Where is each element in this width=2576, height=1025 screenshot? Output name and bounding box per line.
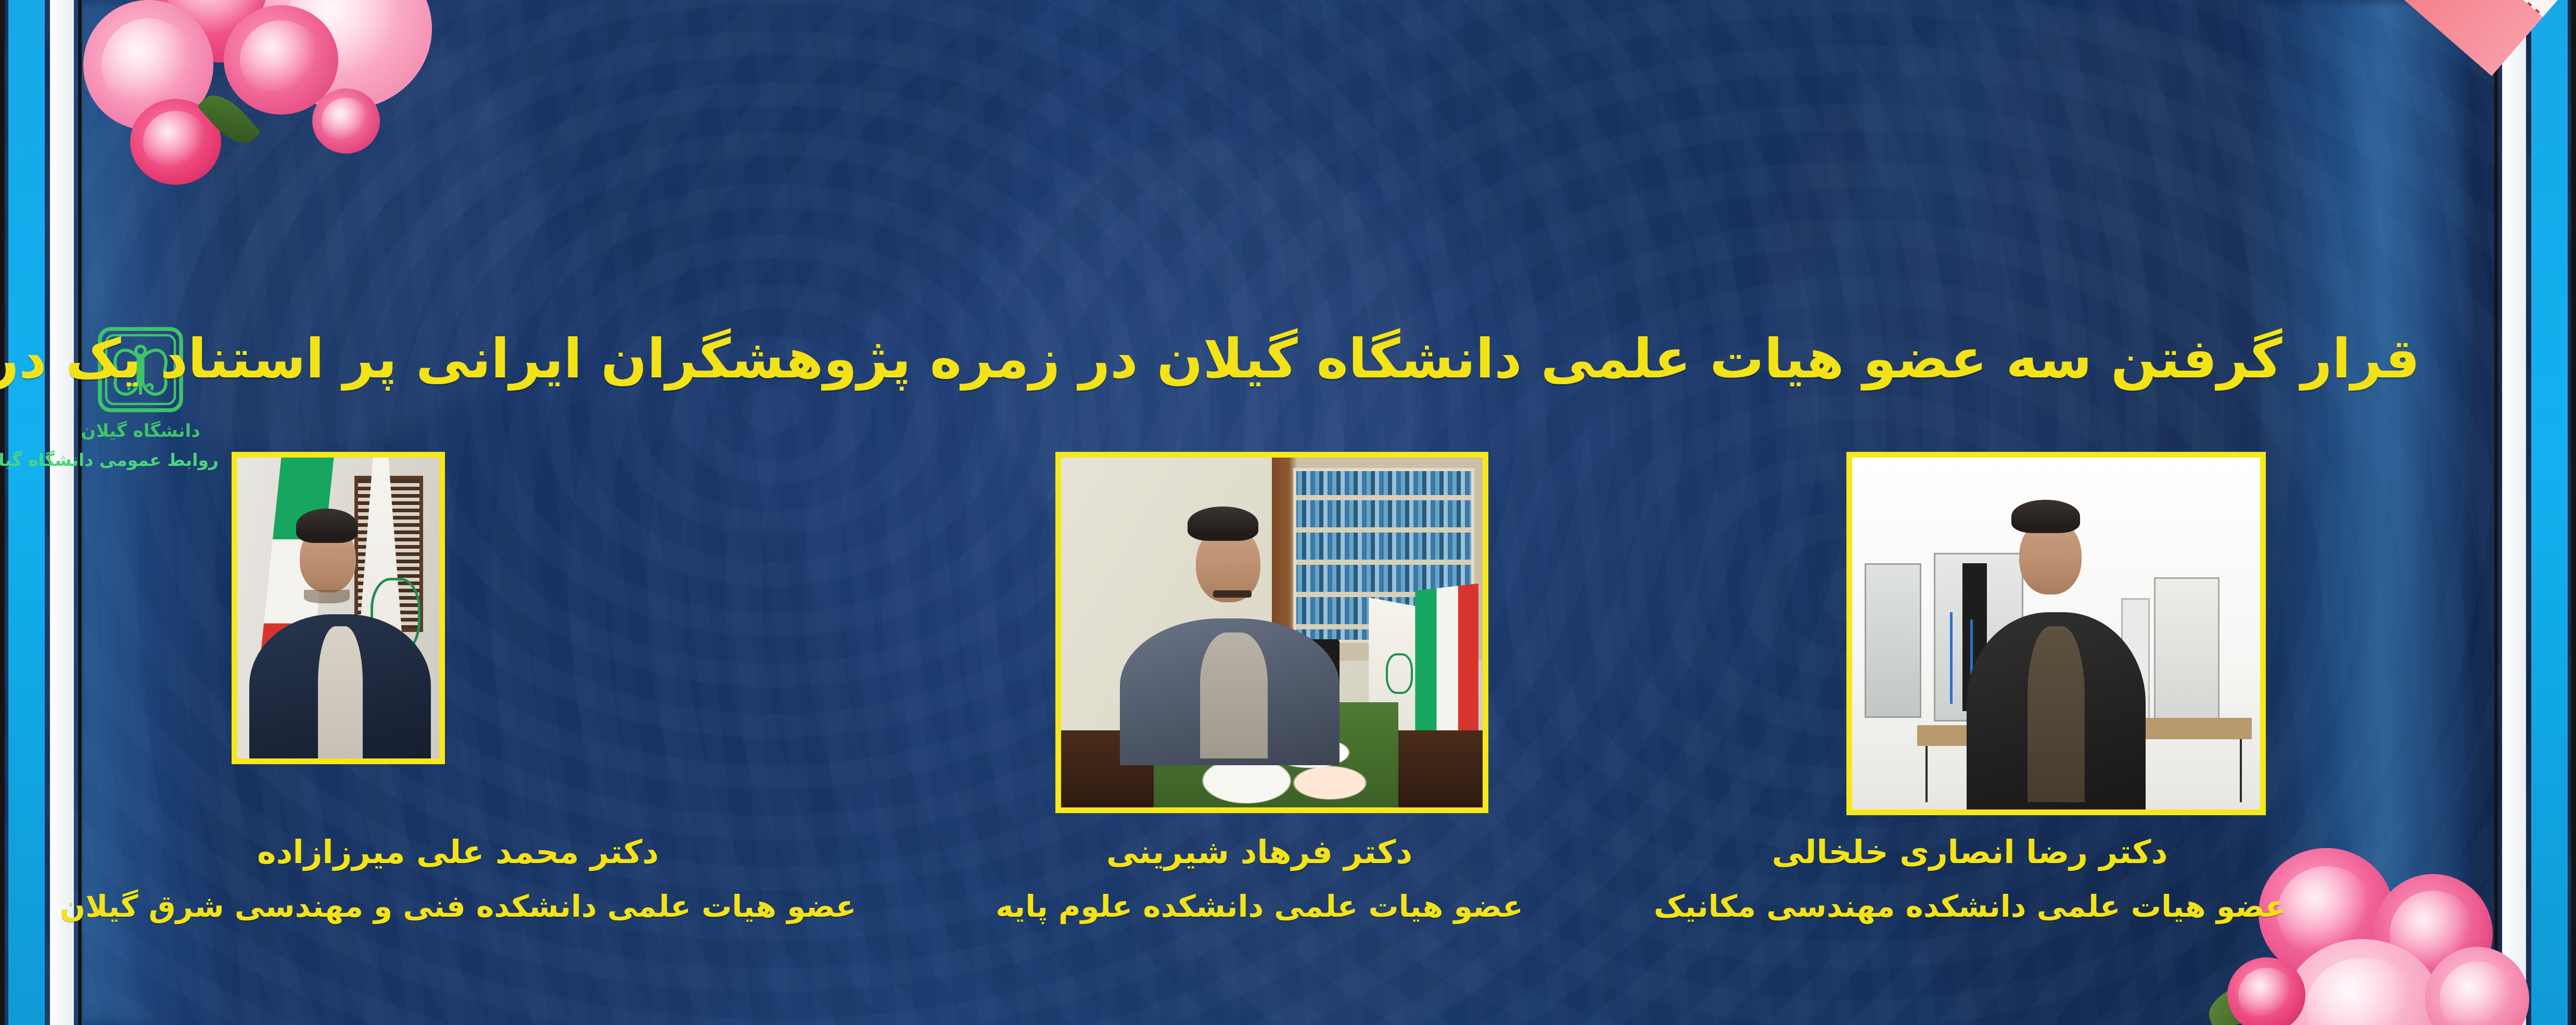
portrait-photo-ansari-khalkhali [1852, 458, 2260, 809]
logo-script-name: دانشگاه گیلان [62, 421, 219, 441]
rose-cluster-top-left [68, 0, 432, 224]
rose-flower [260, 0, 432, 109]
leaf-shape [197, 86, 261, 153]
rose-bud [312, 88, 380, 154]
page-title: قرار گرفتن سه عضو هیات علمی دانشگاه گیلا… [224, 328, 2420, 390]
person-name: دکتر فرهاد شیرینی [916, 833, 1603, 871]
portrait-row [0, 449, 2576, 824]
caption-mirzazadeh: دکتر محمد علی میرزازاده عضو هیات علمی دا… [31, 833, 885, 924]
caption-row: دکتر محمد علی میرزازاده عضو هیات علمی دا… [0, 833, 2576, 1005]
flag-red-band [1903, 0, 2543, 76]
leaf-shape [125, 45, 208, 109]
portrait-frame-shirini [1055, 452, 1488, 813]
portrait-frame-mirzazadeh [232, 452, 445, 764]
person-role: عضو هیات علمی دانشکده علوم پایه [916, 889, 1603, 924]
rose-flower [224, 5, 338, 115]
caption-ansari-khalkhali: دکتر رضا انصاری خلخالی عضو هیات علمی دان… [1624, 833, 2316, 924]
banner-root: دانشگاه گیلان روابط عمومی دانشگاه گیلان … [0, 0, 2576, 1025]
caption-shirini: دکتر فرهاد شیرینی عضو هیات علمی دانشکده … [916, 833, 1603, 924]
stem-shape [175, 57, 186, 161]
flag-kufic-bottom [1949, 0, 2544, 22]
stem-shape [153, 58, 171, 151]
portrait-frame-ansari-khalkhali [1846, 452, 2266, 815]
leaf-shape [287, 2, 358, 63]
portrait-photo-shirini [1061, 458, 1483, 807]
rose-flower [146, 0, 297, 62]
person-name: دکتر رضا انصاری خلخالی [1624, 833, 2316, 871]
portrait-photo-mirzazadeh [237, 458, 439, 758]
rose-bud [130, 99, 221, 185]
person-role: عضو هیات علمی دانشکده مهندسی مکانیک [1624, 889, 2316, 924]
person-role: عضو هیات علمی دانشکده فنی و مهندسی شرق گ… [31, 889, 885, 924]
person-name: دکتر محمد علی میرزازاده [31, 833, 885, 871]
